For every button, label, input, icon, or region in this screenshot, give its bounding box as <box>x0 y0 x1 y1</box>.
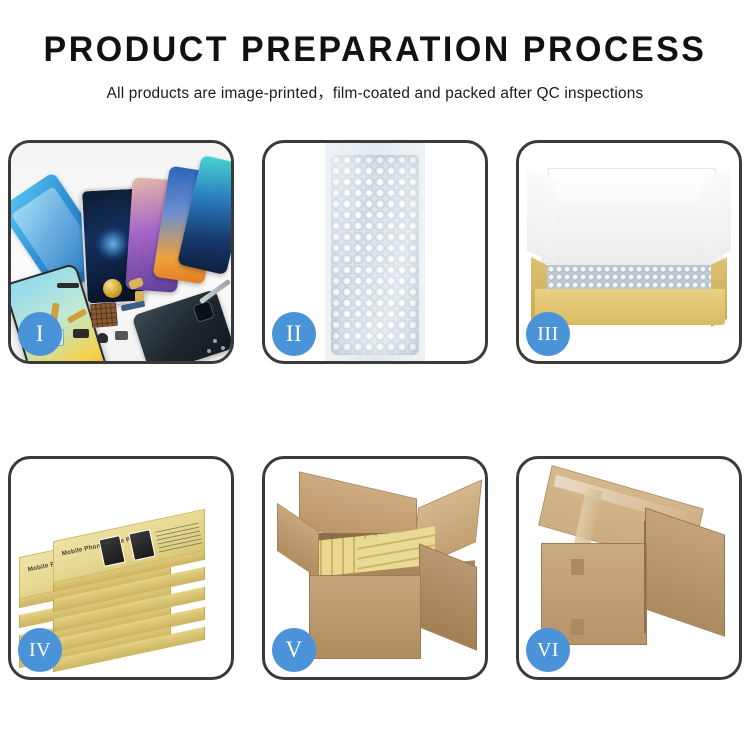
screw-icon <box>213 339 217 343</box>
step-badge-3: III <box>526 312 570 356</box>
step-panel-3: III <box>516 140 742 364</box>
header: PRODUCT PREPARATION PROCESS All products… <box>0 0 750 103</box>
step-badge-2: II <box>272 312 316 356</box>
screw-icon <box>207 349 211 353</box>
step-panel-1: I <box>8 140 234 364</box>
chip-grid-part-icon <box>90 302 118 328</box>
coil-part-icon <box>103 279 122 298</box>
part-icon <box>115 331 128 340</box>
page-title: PRODUCT PREPARATION PROCESS <box>11 32 739 67</box>
carton-front-icon <box>309 575 421 659</box>
part-icon <box>73 329 89 338</box>
step-badge-1: I <box>18 312 62 356</box>
process-steps-grid: I II III <box>8 140 742 684</box>
screw-icon <box>221 346 225 350</box>
step-panel-6: VI <box>516 456 742 680</box>
part-icon <box>57 283 79 288</box>
product-preparation-infographic: PRODUCT PREPARATION PROCESS All products… <box>0 0 750 750</box>
step-badge-6: VI <box>526 628 570 672</box>
step-panel-2: II <box>262 140 488 364</box>
page-subtitle: All products are image-printed，film-coat… <box>4 81 747 103</box>
step-panel-5: V <box>262 456 488 680</box>
part-icon <box>97 333 108 343</box>
step-badge-4: IV <box>18 628 62 672</box>
step-badge-5: V <box>272 628 316 672</box>
step-panel-4: Mobile Phone Spare Parts Mobile Phone Sp… <box>8 456 234 680</box>
